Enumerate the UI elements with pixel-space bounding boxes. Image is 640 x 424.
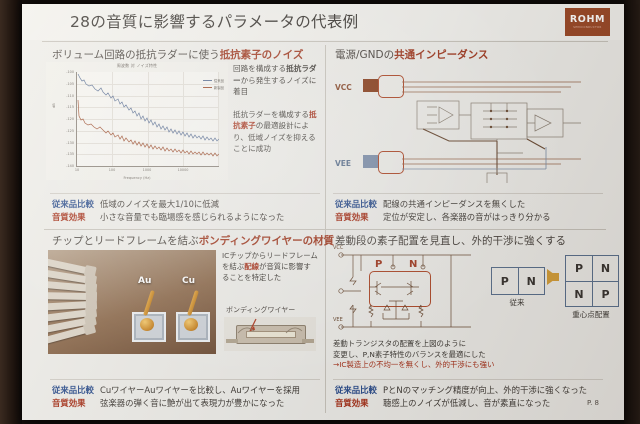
power-gnd-schematic: VCC VEE (331, 63, 603, 183)
photo-label-cu: Cu (182, 276, 195, 286)
noise-spectrum-chart: 周波数 対 ノイズ特性 dB -100 -105 -110 -115 -120 … (46, 62, 228, 180)
panel-3-heading-plain: チップとリードフレームを結ぶ (52, 235, 199, 247)
layout-after-cell-2: N (566, 281, 592, 306)
panel-2-footer: 従来品比較 配線の共通インピーダンスを無くした 音質効果 定位が安定し、各楽器の… (335, 198, 603, 224)
layout-after-cell-1: N (592, 256, 618, 281)
diff-schematic-wires (331, 247, 481, 333)
panel-3-heading-highlight: ボンディングワイヤーの材質 (199, 235, 334, 247)
package-cross-section (224, 317, 316, 351)
layout-after-caption: 重心点配置 (557, 309, 625, 320)
panel-4-note-line-1: 差動トランジスタの配置を上図のように (333, 339, 595, 350)
panel-bonding-wire: チップとリードフレームを結ぶボンディングワイヤーの材質 (42, 229, 325, 415)
panel-common-impedance: 電源/GNDの共通インピーダンス VCC VEE (325, 43, 608, 229)
page-number: P. 8 (587, 397, 599, 410)
panel-1-heading-highlight: 抵抗素子のノイズ (220, 49, 304, 61)
chart-legend: 従来品 新製品 (203, 78, 224, 92)
ball-bond-cu (184, 318, 198, 331)
layout-before-cell-0: P (492, 268, 518, 294)
panel-1-footer-rule (50, 193, 320, 194)
photo-label-au: Au (138, 276, 151, 286)
title-divider (42, 41, 608, 42)
layout-after-cell-3: P (592, 281, 618, 306)
legend-item-conventional: 従来品 (203, 78, 224, 83)
panel-1-notes: 回路を構成する抵抗ラダーから発生するノイズに着目 抵抗ラダーを構成する抵抗素子の… (233, 63, 321, 155)
screenshot-root: 28の音質に影響するパラメータの代表例 ROHM SEMICONDUCTOR ボ… (0, 0, 640, 424)
projected-slide: 28の音質に影響するパラメータの代表例 ROHM SEMICONDUCTOR ボ… (22, 4, 624, 420)
panel-2-heading: 電源/GNDの共通インピーダンス (335, 47, 488, 62)
panel-4-heading-plain: 差動段の素子配置を見直し、外的干渉に強くする (335, 235, 566, 247)
legend-item-new: 新製品 (203, 85, 224, 90)
chart-y-ticks: -100 -105 -110 -115 -120 -125 -130 -135 … (46, 72, 74, 166)
panel-1-footer-row-compare: 従来品比較 低域のノイズを最大1/10に低減 (52, 198, 320, 211)
left-wall-shadow (0, 0, 22, 424)
layout-after-cell-0: P (566, 256, 592, 281)
logo-wordmark: ROHM (570, 15, 605, 25)
ball-bond-au (140, 318, 154, 331)
panel-3-notes: ICチップからリードフレームを結ぶ配線が音質に影響することを特定した (222, 250, 318, 283)
panel-2-footer-row-sound: 音質効果 定位が安定し、各楽器の音がはっきり分かる (335, 211, 603, 224)
panel-2-heading-highlight: 共通インピーダンス (394, 49, 488, 61)
panel-3-footer-row-sound: 音質効果 弦楽器の弾く音に艶が出て表現力が豊かになった (52, 397, 320, 410)
panel-3-footer: 従来品比較 CuワイヤーAuワイヤーを比較し、Auワイヤーを採用 音質効果 弦楽… (52, 384, 320, 410)
panel-2-footer-rule (333, 193, 603, 194)
panel-3-heading: チップとリードフレームを結ぶボンディングワイヤーの材質 (52, 233, 334, 248)
panel-1-note-2: 抵抗ラダーを構成する抵抗素子の最適設計により、低域ノイズを抑えることに成功 (233, 109, 321, 155)
panel-1-footer: 従来品比較 低域のノイズを最大1/10に低減 音質効果 小さな音量でも臨場感を感… (52, 198, 320, 224)
schematic-wires (331, 63, 603, 183)
layout-before-caption: 従来 (491, 297, 543, 308)
layout-before-cell-1: N (518, 268, 545, 294)
panel-2-footer-row-compare: 従来品比較 配線の共通インピーダンスを無くした (335, 198, 603, 211)
rohm-logo: ROHM SEMICONDUCTOR (565, 8, 610, 36)
panel-resistor-noise: ボリューム回路の抵抗ラダーに使う抵抗素子のノイズ 周波数 対 ノイズ特性 dB … (42, 43, 325, 229)
panel-1-note-1: 回路を構成する抵抗ラダーから発生するノイズに着目 (233, 63, 321, 98)
chart-x-axis-label: Frequency (Hz) (46, 176, 228, 180)
chart-plot-area (76, 72, 219, 167)
panel-4-footer-rule (333, 379, 603, 380)
panel-common-centroid: 差動段の素子配置を見直し、外的干渉に強くする VCC VEE P N (325, 229, 608, 415)
layout-before-box: P N (491, 267, 545, 295)
right-edge-shadow (624, 0, 640, 424)
transition-arrow-icon (547, 269, 558, 285)
panel-3-footer-rule (50, 379, 320, 380)
series-conventional (78, 74, 219, 141)
panel-2-heading-plain: 電源/GNDの (335, 49, 394, 61)
page-title: 28の音質に影響するパラメータの代表例 (70, 10, 358, 32)
callout-arrow (224, 317, 316, 351)
panel-4-footer: 従来品比較 PとNのマッチング精度が向上、外的干渉に強くなった 音質効果 聴感上… (335, 384, 603, 410)
panel-1-footer-row-sound: 音質効果 小さな音量でも臨場感を感じられるようになった (52, 211, 320, 224)
panel-1-heading-plain: ボリューム回路の抵抗ラダーに使う (52, 49, 220, 61)
layout-after-grid: P N N P (565, 255, 619, 307)
logo-tagline: SEMICONDUCTOR (573, 26, 601, 29)
chart-series-paths (77, 72, 219, 166)
bonding-wire-photo: Au Cu (48, 250, 216, 354)
panel-4-footer-row-compare: 従来品比較 PとNのマッチング精度が向上、外的干渉に強くなった (335, 384, 603, 397)
panel-3-footer-row-compare: 従来品比較 CuワイヤーAuワイヤーを比較し、Auワイヤーを採用 (52, 384, 320, 397)
series-new-product (78, 100, 219, 156)
panel-4-footer-row-sound: 音質効果 聴感上のノイズが低減し、音が素直になった (335, 397, 603, 410)
panel-4-heading: 差動段の素子配置を見直し、外的干渉に強くする (335, 233, 566, 248)
panel-4-note-line-2: 変更し、P,N素子特性のバランスを最適にした (333, 350, 595, 361)
panel-4-note-highlight: →IC製造上の不均一を無くし、外的干渉にも強い (333, 360, 595, 371)
panel-1-heading: ボリューム回路の抵抗ラダーに使う抵抗素子のノイズ (52, 47, 303, 62)
chart-title: 周波数 対 ノイズ特性 (46, 63, 228, 69)
differential-pair-schematic: VCC VEE P N (331, 247, 481, 333)
package-diagram-caption: ボンディングワイヤー (226, 305, 295, 315)
panel-4-notes: 差動トランジスタの配置を上図のように 変更し、P,N素子特性のバランスを最適にし… (333, 339, 595, 371)
slide-title-bar: 28の音質に影響するパラメータの代表例 ROHM SEMICONDUCTOR (22, 4, 624, 40)
panel-grid: ボリューム回路の抵抗ラダーに使う抵抗素子のノイズ 周波数 対 ノイズ特性 dB … (42, 43, 608, 415)
